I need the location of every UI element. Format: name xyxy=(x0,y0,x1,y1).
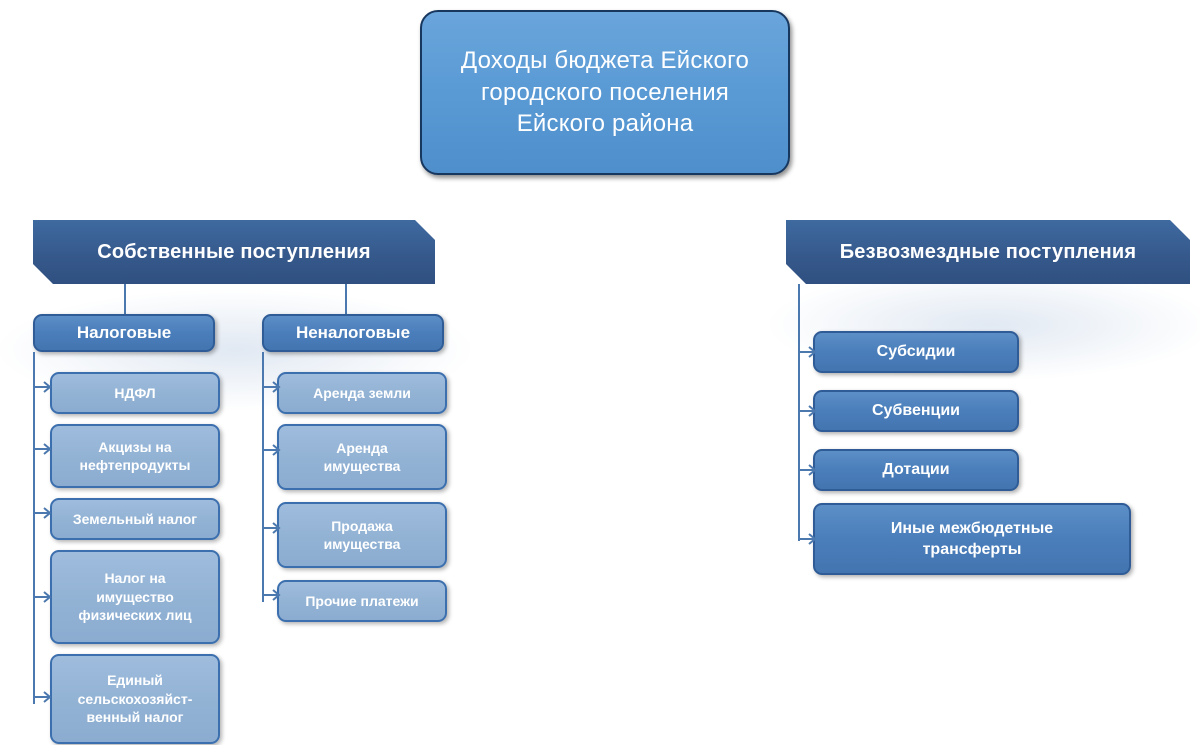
leaf-property-tax-individuals: Налог на имущество физических лиц xyxy=(50,550,220,644)
leaf-land-lease: Аренда земли xyxy=(277,372,447,414)
branch-header-gratuitous-receipts-label: Безвозмездные поступления xyxy=(804,239,1172,265)
leaf-grants-line-1: Дотации xyxy=(823,459,1009,480)
trunk-tax xyxy=(33,352,35,704)
branch-header-own-revenues: Собственные поступления xyxy=(33,220,435,284)
leaf-property-tax-individuals-text: Налог на имущество физических лиц xyxy=(58,569,212,624)
arrow-to-land-tax xyxy=(33,505,53,521)
leaf-property-lease-line-1: Аренда xyxy=(336,440,388,456)
arrow-to-excise-fuel xyxy=(33,441,53,457)
leaf-excise-fuel-line-2: нефтепродукты xyxy=(80,457,191,473)
arrow-to-subsidies xyxy=(798,344,818,360)
arrow-to-subventions xyxy=(798,403,818,419)
leaf-property-lease: Аренда имущества xyxy=(277,424,447,490)
arrow-to-property-lease xyxy=(262,442,282,458)
leaf-ndfl: НДФЛ xyxy=(50,372,220,414)
leaf-property-tax-individuals-line-2: имущество xyxy=(96,589,174,605)
leaf-property-lease-line-2: имущества xyxy=(324,458,401,474)
arrow-to-unified-agricultural-tax xyxy=(33,689,53,705)
arrow-to-other-interbudget-transfers xyxy=(798,531,818,547)
leaf-property-lease-text: Аренда имущества xyxy=(285,439,439,476)
leaf-property-sale: Продажа имущества xyxy=(277,502,447,568)
leaf-property-sale-line-1: Продажа xyxy=(331,518,393,534)
leaf-other-interbudget-transfers-text: Иные межбюдетные трансферты xyxy=(823,518,1121,560)
leaf-excise-fuel-line-1: Акцизы на xyxy=(98,439,171,455)
leaf-unified-agricultural-tax-line-1: Единый xyxy=(107,672,163,688)
budget-revenue-diagram: Доходы бюджета Ейского городского поселе… xyxy=(0,0,1200,745)
connector-own-to-tax xyxy=(124,284,126,314)
leaf-property-tax-individuals-line-3: физических лиц xyxy=(78,607,191,623)
leaf-grants: Дотации xyxy=(813,449,1019,491)
arrow-to-ndfl xyxy=(33,379,53,395)
leaf-land-lease-line-1: Аренда земли xyxy=(285,384,439,402)
root-title-line-2: городского поселения xyxy=(481,79,729,106)
leaf-other-payments: Прочие платежи xyxy=(277,580,447,622)
leaf-excise-fuel: Акцизы на нефтепродукты xyxy=(50,424,220,488)
leaf-property-sale-text: Продажа имущества xyxy=(285,517,439,554)
leaf-unified-agricultural-tax-text: Единый сельскохозяйст- венный налог xyxy=(58,671,212,726)
leaf-subventions: Субвенции xyxy=(813,390,1019,432)
arrow-to-other-payments xyxy=(262,587,282,603)
leaf-other-interbudget-transfers: Иные межбюдетные трансферты xyxy=(813,503,1131,575)
leaf-subsidies-line-1: Субсидии xyxy=(823,341,1009,362)
group-box-tax-label: Налоговые xyxy=(43,322,205,344)
group-box-tax: Налоговые xyxy=(33,314,215,352)
arrow-to-grants xyxy=(798,462,818,478)
root-title-text: Доходы бюджета Ейского городского поселе… xyxy=(436,45,774,140)
leaf-unified-agricultural-tax-line-3: венный налог xyxy=(87,709,184,725)
leaf-other-interbudget-transfers-line-1: Иные межбюдетные xyxy=(891,520,1053,537)
leaf-ndfl-line-1: НДФЛ xyxy=(58,384,212,402)
leaf-unified-agricultural-tax-line-2: сельскохозяйст- xyxy=(78,691,193,707)
branch-header-own-revenues-label: Собственные поступления xyxy=(51,239,417,265)
root-title-line-1: Доходы бюджета Ейского xyxy=(461,47,749,74)
arrow-to-land-lease xyxy=(262,379,282,395)
leaf-land-tax-line-1: Земельный налог xyxy=(58,510,212,528)
root-title-box: Доходы бюджета Ейского городского поселе… xyxy=(420,10,790,175)
leaf-property-tax-individuals-line-1: Налог на xyxy=(104,570,165,586)
group-box-nontax-label: Неналоговые xyxy=(272,322,434,344)
branch-header-gratuitous-receipts: Безвозмездные поступления xyxy=(786,220,1190,284)
leaf-other-interbudget-transfers-line-2: трансферты xyxy=(923,541,1022,558)
leaf-land-tax: Земельный налог xyxy=(50,498,220,540)
arrow-to-property-tax-individuals xyxy=(33,589,53,605)
leaf-property-sale-line-2: имущества xyxy=(324,536,401,552)
root-title-line-3: Ейского района xyxy=(517,110,694,137)
group-box-nontax: Неналоговые xyxy=(262,314,444,352)
leaf-other-payments-line-1: Прочие платежи xyxy=(285,592,439,610)
leaf-subsidies: Субсидии xyxy=(813,331,1019,373)
leaf-subventions-line-1: Субвенции xyxy=(823,400,1009,421)
connector-own-to-nontax xyxy=(345,284,347,314)
leaf-excise-fuel-text: Акцизы на нефтепродукты xyxy=(58,438,212,475)
leaf-unified-agricultural-tax: Единый сельскохозяйст- венный налог xyxy=(50,654,220,744)
arrow-to-property-sale xyxy=(262,520,282,536)
